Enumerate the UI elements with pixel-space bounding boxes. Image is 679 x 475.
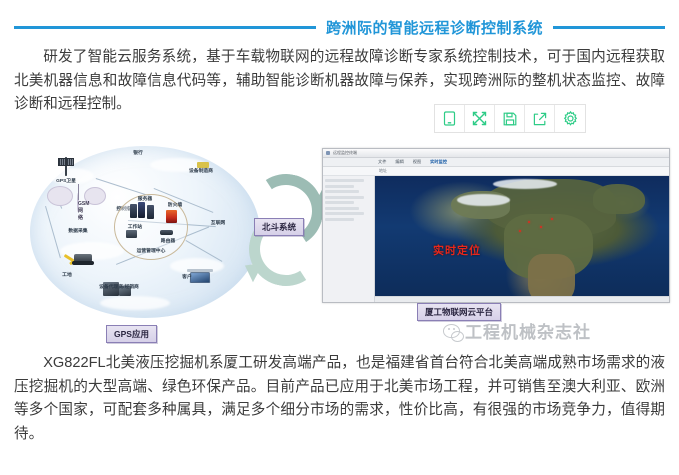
watermark: 工程机械杂志社 (443, 318, 591, 343)
sync-arrows: 北斗系统 (243, 178, 333, 286)
menu-item-edit[interactable]: 编辑 (395, 159, 403, 165)
sidebar-line (325, 201, 354, 204)
page-header: 跨洲际的智能远程诊断控制系统 (0, 0, 679, 40)
node-workstation: 工作站 (120, 222, 150, 230)
menu-item-monitor[interactable]: 实时监控 (430, 159, 447, 165)
beidou-system-chip: 北斗系统 (254, 218, 304, 236)
node-bank: 银行 (118, 148, 158, 156)
router-icon (160, 230, 173, 235)
window-sidebar[interactable] (323, 176, 375, 302)
node-label: GPS卫星 (47, 177, 85, 184)
server-icon (147, 205, 154, 219)
window-title: 远程监控终端 (333, 150, 357, 156)
mobile-icon[interactable] (435, 105, 465, 132)
wechat-icon (443, 324, 460, 338)
figure-band: GPS卫星 GSM网络 数据采集 控制指令 银行 设备制造商 (0, 140, 679, 345)
window-address-bar[interactable]: 地址 (323, 167, 669, 176)
node-satellite: GPS卫星 (46, 158, 86, 184)
sidebar-line (325, 218, 354, 221)
node-label: 数据采集 (57, 227, 99, 234)
server-icon (130, 204, 137, 218)
node-worksite: 工地 (34, 252, 100, 278)
node-router: 路由器 (153, 236, 183, 244)
menu-item-view[interactable]: 视图 (413, 159, 421, 165)
server-icon (138, 202, 145, 218)
node-label: 工地 (35, 271, 98, 278)
window-menu-bar[interactable]: 文件 编辑 视图 实时监控 (323, 158, 669, 167)
node-label: 防火墙 (159, 201, 192, 208)
satellite-icon (46, 158, 86, 176)
pc-icon (126, 230, 137, 238)
node-opcenter: 运营管理中心 (112, 246, 190, 254)
sidebar-line (325, 212, 364, 215)
sidebar-line (325, 179, 364, 182)
action-toolbar[interactable] (434, 104, 586, 133)
save-icon[interactable] (495, 105, 525, 132)
node-data-link: 数据采集 (56, 226, 100, 234)
node-label: 设备代理商/经销商 (85, 283, 152, 290)
page-title: 跨洲际的智能远程诊断控制系统 (326, 17, 543, 38)
satellite-map-canvas[interactable]: 实时定位 (375, 176, 669, 302)
title-rule-right (553, 26, 665, 29)
gear-icon[interactable] (555, 105, 585, 132)
sidebar-line (325, 190, 359, 193)
node-firewall: 防火墙 (158, 200, 192, 208)
watermark-text: 工程机械杂志社 (465, 318, 591, 343)
node-label: 运营管理中心 (114, 247, 189, 254)
node-internet: 互联网 (198, 218, 238, 226)
map-application-window: 远程监控终端 文件 编辑 视图 实时监控 地址 (322, 148, 670, 303)
node-label: 工作站 (121, 223, 150, 230)
gps-application-caption: GPS应用 (106, 325, 157, 343)
sidebar-line (325, 207, 359, 210)
menu-item-file[interactable]: 文件 (378, 159, 386, 165)
realtime-positioning-label: 实时定位 (433, 242, 481, 258)
firewall-icon (166, 210, 177, 223)
node-customer: 客户 (170, 272, 204, 280)
outro-paragraph: XG822FL北美液压挖掘机系厦工研发高端产品，也是福建省首台符合北美高端成熟市… (14, 352, 665, 447)
node-label: 银行 (119, 149, 157, 156)
sidebar-line (325, 185, 354, 188)
fullscreen-icon[interactable] (465, 105, 495, 132)
node-gsm-network: GSM网络 (50, 194, 106, 212)
window-icon (326, 151, 330, 155)
window-status-bar (375, 296, 669, 302)
node-label: 路由器 (154, 237, 183, 244)
node-label: 互联网 (199, 219, 237, 226)
window-title-bar: 远程监控终端 (323, 149, 669, 158)
excavator-icon (34, 252, 100, 270)
share-icon[interactable] (525, 105, 555, 132)
title-rule-left (14, 26, 316, 29)
node-label: 设备制造商 (177, 167, 225, 174)
address-label: 地址 (379, 168, 387, 174)
sidebar-line (325, 196, 364, 199)
node-manufacturer: 设备制造商 (176, 166, 226, 174)
node-label: 客户 (171, 273, 204, 280)
cloud-icon: GSM网络 (50, 194, 106, 212)
node-dealer: 设备代理商/经销商 (84, 282, 154, 290)
